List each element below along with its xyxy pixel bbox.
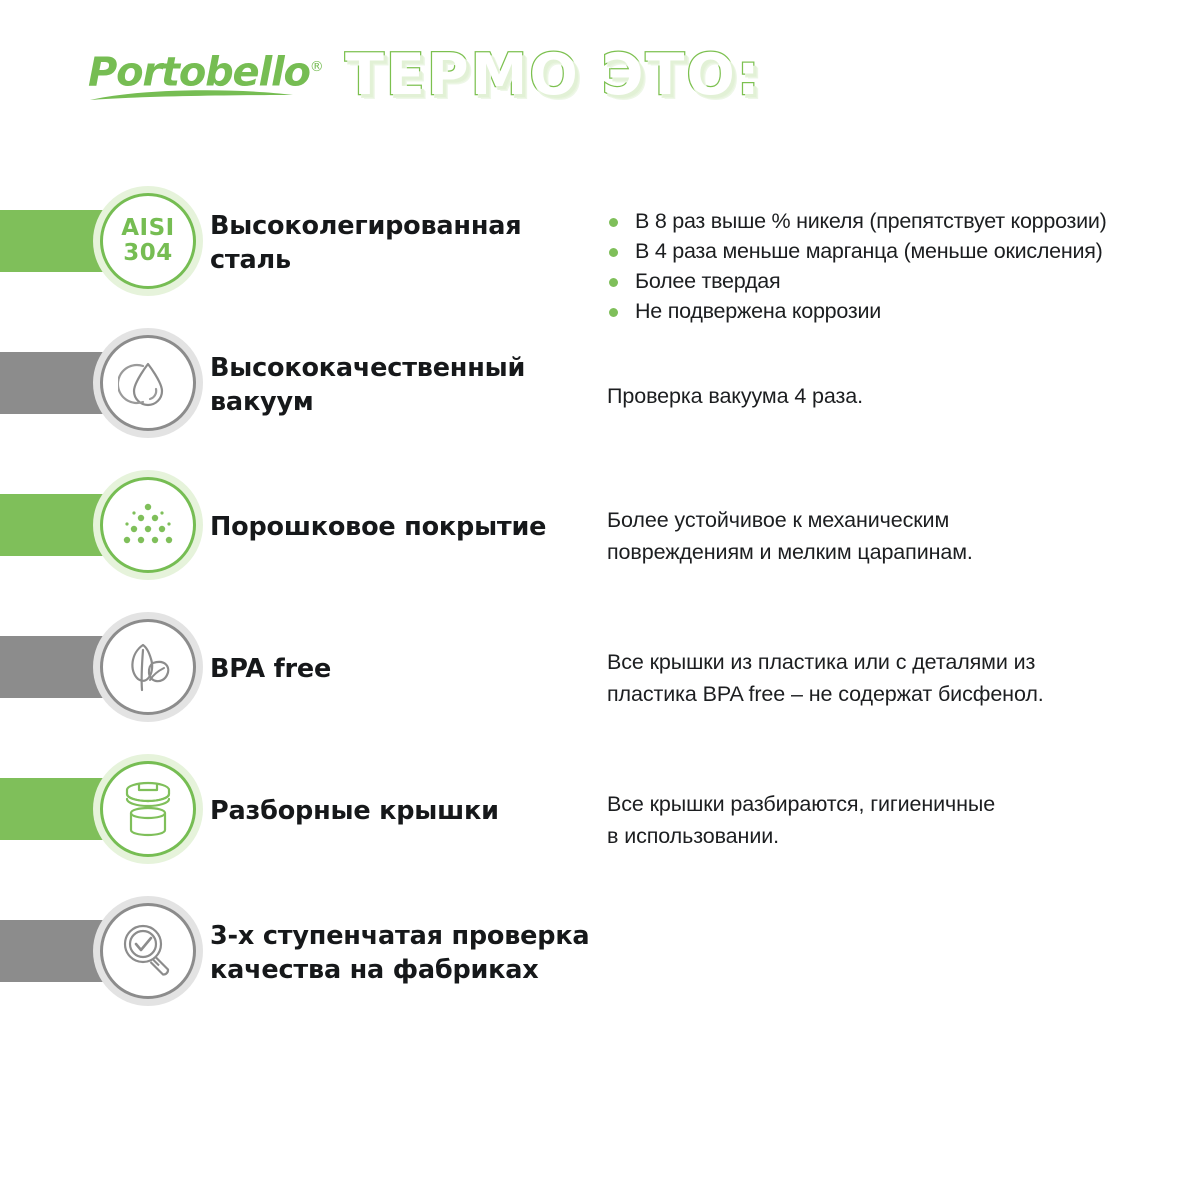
aisi-badge-text: AISI 304 (121, 216, 174, 266)
powder-dots-glyph (117, 497, 179, 553)
magnifier-check-glyph (116, 919, 180, 983)
feature-description: Более устойчивое к механическим поврежде… (607, 504, 1187, 568)
registered-trademark-icon: ® (310, 59, 324, 75)
feature-heading: Порошковое покрытие (210, 510, 590, 544)
bullet-dot-icon (609, 278, 618, 287)
list-item: В 8 раз выше % никеля (препятствует корр… (607, 206, 1200, 236)
leaf-icon (100, 619, 196, 715)
bullet-text: Более твердая (635, 269, 780, 293)
feature-bullet-list: В 8 раз выше % никеля (препятствует корр… (607, 206, 1200, 326)
lid-container-icon (100, 761, 196, 857)
list-item: Не подвержена коррозии (607, 296, 1200, 326)
feature-description: Все крышки из пластика или с деталями из… (607, 646, 1187, 710)
feature-heading: Высококачественный вакуум (210, 351, 590, 419)
bullet-dot-icon (609, 218, 618, 227)
leaf-glyph (117, 637, 179, 697)
feature-heading: 3-х ступенчатая проверка качества на фаб… (210, 919, 650, 987)
bullet-text: В 4 раза меньше марганца (меньше окислен… (635, 239, 1103, 263)
bullet-text: Не подвержена коррозии (635, 299, 881, 323)
lid-container-glyph (115, 777, 181, 841)
aisi-grade: 304 (121, 241, 174, 266)
list-item: Более твердая (607, 266, 1200, 296)
feature-description: Проверка вакуума 4 раза. (607, 380, 1187, 412)
magnifier-check-icon (100, 903, 196, 999)
brand-logo-swoosh-icon (88, 86, 298, 102)
feature-description: Все крышки разбираются, гигиеничные в ис… (607, 788, 1187, 852)
list-item: В 4 раза меньше марганца (меньше окислен… (607, 236, 1200, 266)
bullet-dot-icon (609, 248, 618, 257)
brand-logo: Portobello® (88, 46, 308, 112)
bullet-text: В 8 раз выше % никеля (препятствует корр… (635, 209, 1107, 233)
aisi-label: AISI (121, 216, 174, 241)
water-drop-icon (100, 335, 196, 431)
page-header: Portobello® ТЕРМО ЭТО: (0, 0, 1200, 150)
feature-heading: Разборные крышки (210, 794, 590, 828)
feature-heading: Высоколегированная сталь (210, 209, 590, 277)
page-title: ТЕРМО ЭТО: (345, 44, 762, 106)
powder-dots-icon (100, 477, 196, 573)
feature-heading: BPA free (210, 652, 590, 686)
bullet-dot-icon (609, 308, 618, 317)
water-drop-glyph (118, 353, 178, 413)
aisi-304-badge-icon: AISI 304 (100, 193, 196, 289)
